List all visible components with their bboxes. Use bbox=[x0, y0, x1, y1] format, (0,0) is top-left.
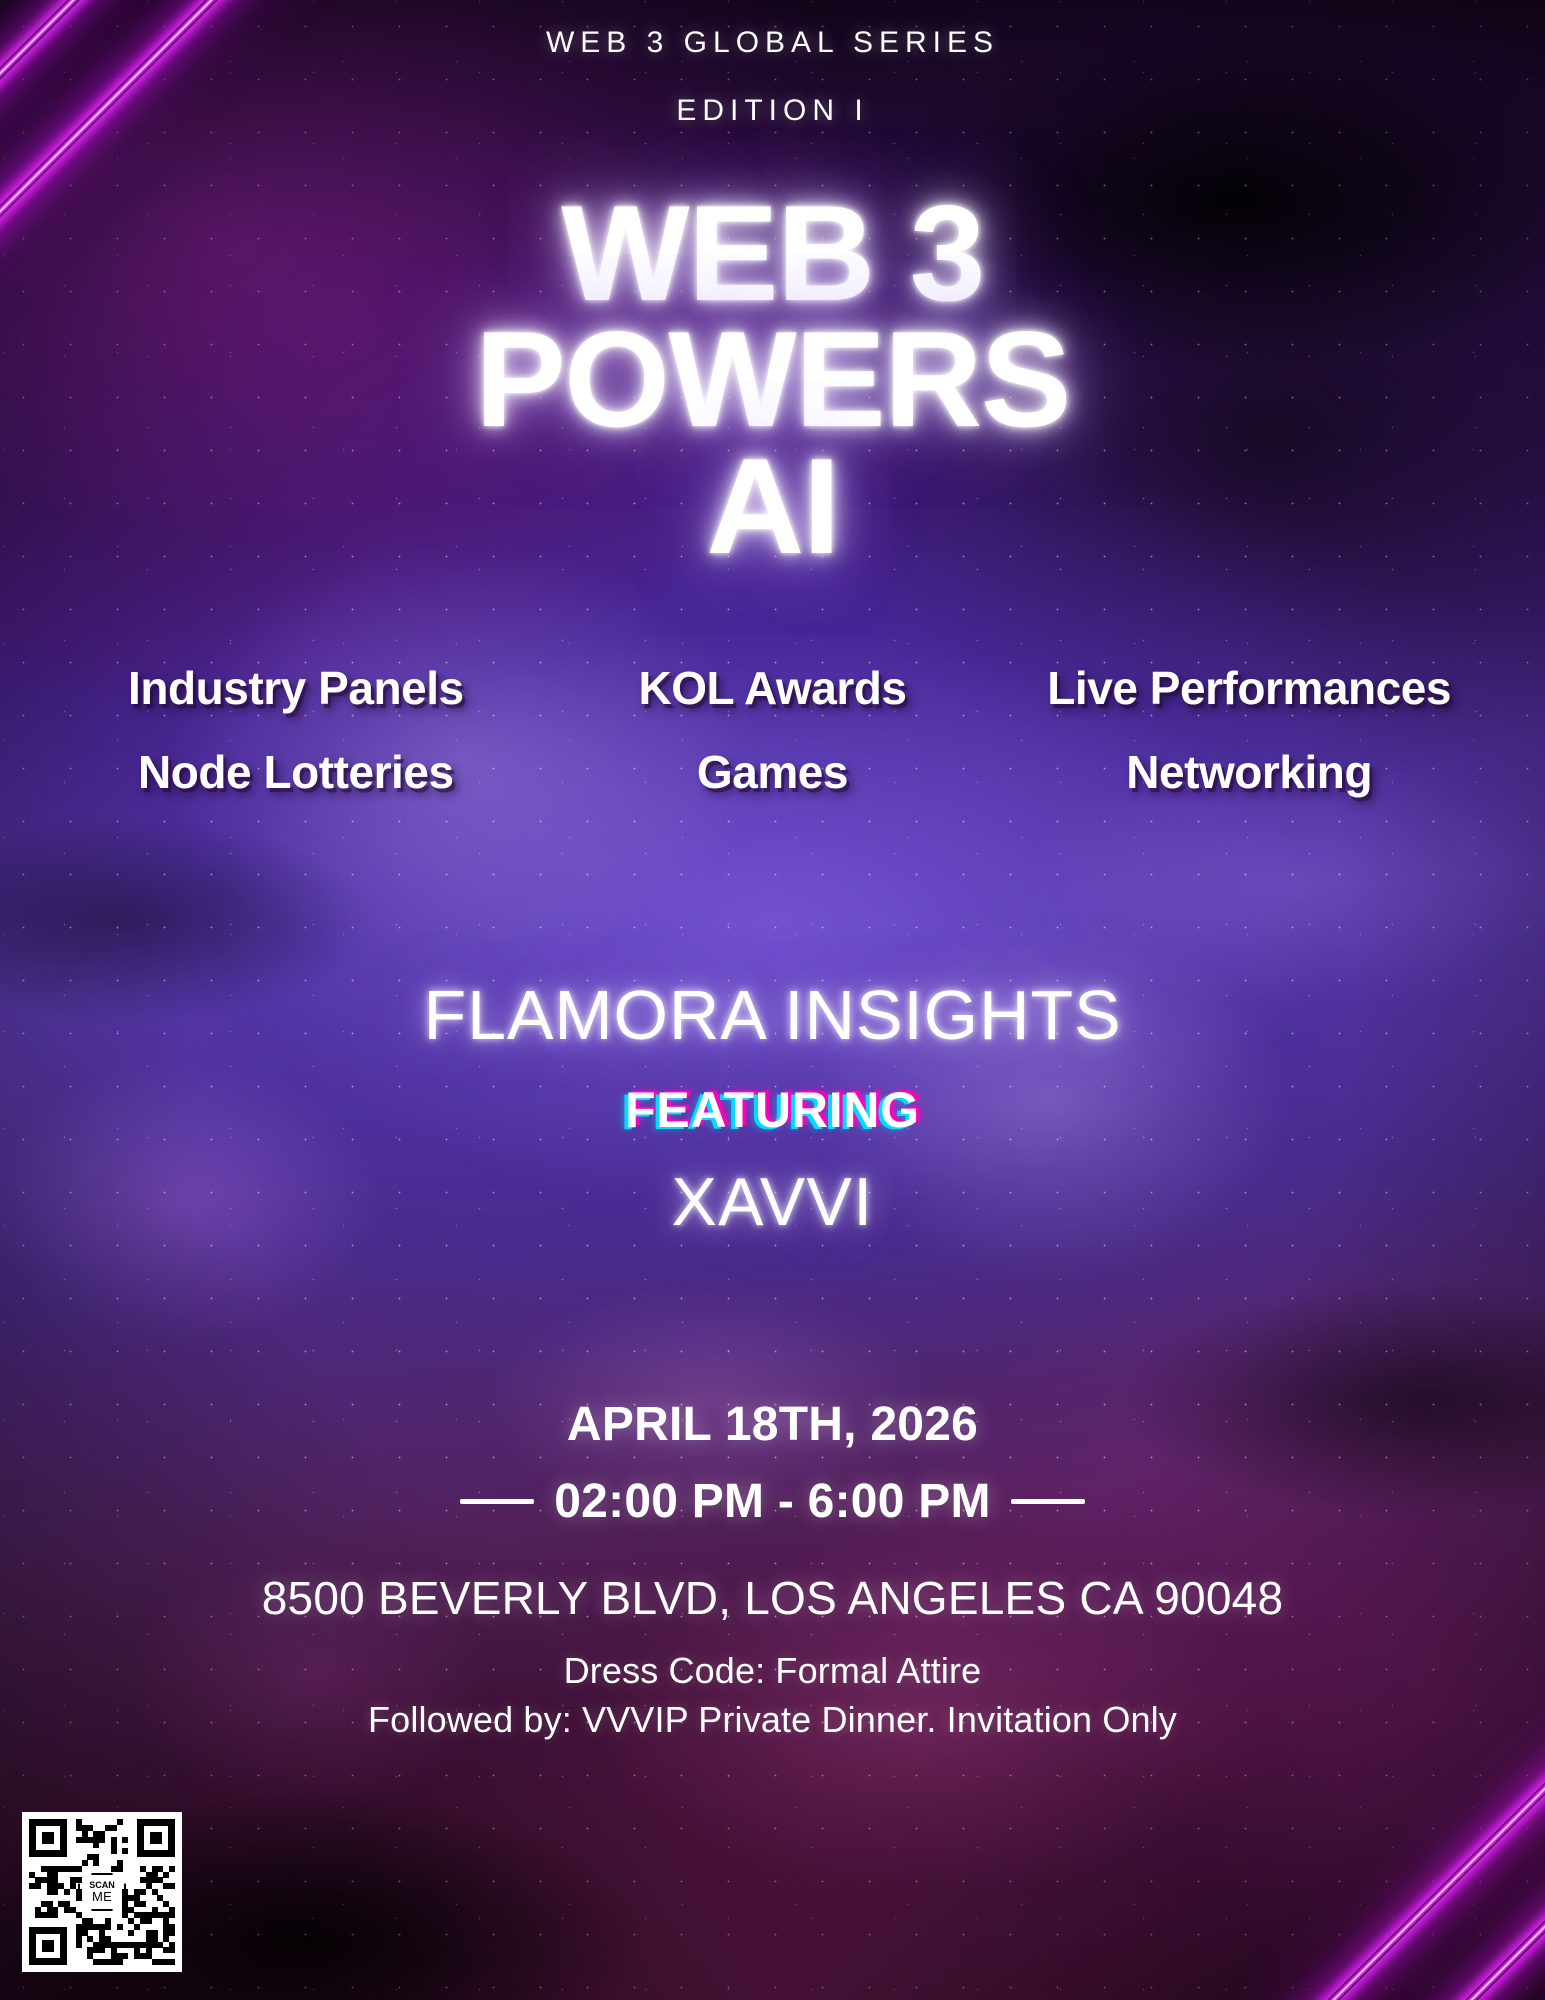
feature-item: KOL Awards bbox=[638, 661, 906, 715]
time-rule-left bbox=[460, 1499, 534, 1504]
event-time-row: 02:00 PM - 6:00 PM bbox=[460, 1474, 1084, 1529]
qr-code[interactable]: SCAN ME bbox=[22, 1812, 182, 1972]
presenter-block: FLAMORA INSIGHTS FEATURING XAVVI bbox=[424, 975, 1122, 1241]
featured-artist: XAVVI bbox=[424, 1163, 1122, 1241]
title-line-2: POWERS bbox=[475, 316, 1070, 442]
page-title: WEB 3 POWERS AI bbox=[475, 190, 1070, 569]
series-kicker: WEB 3 GLOBAL SERIES bbox=[546, 26, 999, 60]
dress-code-note: Dress Code: Formal Attire bbox=[368, 1647, 1177, 1695]
time-rule-right bbox=[1011, 1499, 1085, 1504]
event-address: 8500 BEVERLY BLVD, LOS ANGELES CA 90048 bbox=[262, 1571, 1284, 1625]
event-poster: WEB 3 GLOBAL SERIES EDITION I WEB 3 POWE… bbox=[0, 0, 1545, 2000]
qr-scan-me-badge: SCAN ME bbox=[76, 1871, 128, 1913]
feature-item: Networking bbox=[1126, 745, 1372, 799]
event-time: 02:00 PM - 6:00 PM bbox=[554, 1474, 990, 1529]
feature-item: Industry Panels bbox=[128, 661, 464, 715]
feature-list: Industry Panels KOL Awards Live Performa… bbox=[58, 661, 1488, 799]
edition-kicker: EDITION I bbox=[676, 94, 868, 128]
qr-finder-top-right bbox=[137, 1819, 175, 1857]
qr-finder-top-left bbox=[29, 1819, 67, 1857]
feature-item: Live Performances bbox=[1047, 661, 1451, 715]
presenter-name: FLAMORA INSIGHTS bbox=[424, 975, 1122, 1055]
title-line-3: AI bbox=[475, 443, 1070, 569]
qr-scan-label-bottom: ME bbox=[92, 1890, 112, 1903]
feature-item: Node Lotteries bbox=[138, 745, 454, 799]
qr-finder-bottom-left bbox=[29, 1927, 67, 1965]
event-date: APRIL 18TH, 2026 bbox=[460, 1397, 1084, 1452]
qr-code-matrix: SCAN ME bbox=[29, 1819, 175, 1965]
event-datetime: APRIL 18TH, 2026 02:00 PM - 6:00 PM bbox=[460, 1397, 1084, 1529]
featuring-label: FEATURING bbox=[424, 1081, 1122, 1139]
poster-content: WEB 3 GLOBAL SERIES EDITION I WEB 3 POWE… bbox=[0, 0, 1545, 2000]
private-dinner-note: Followed by: VVVIP Private Dinner. Invit… bbox=[368, 1696, 1177, 1744]
footnote-block: Dress Code: Formal Attire Followed by: V… bbox=[368, 1647, 1177, 1743]
title-line-1: WEB 3 bbox=[475, 190, 1070, 316]
feature-item: Games bbox=[697, 745, 848, 799]
